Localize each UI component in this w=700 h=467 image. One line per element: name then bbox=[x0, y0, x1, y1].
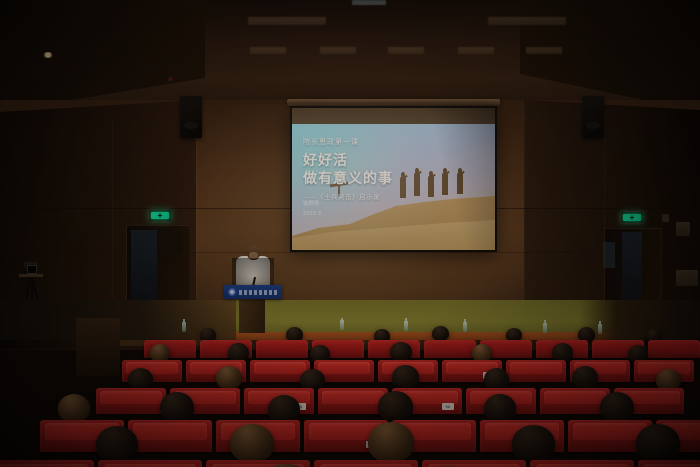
seat-cushion bbox=[510, 362, 563, 373]
seat[interactable] bbox=[98, 460, 202, 467]
seat[interactable] bbox=[648, 340, 700, 358]
seat[interactable] bbox=[506, 360, 566, 382]
podium-nameplate-text bbox=[239, 290, 279, 295]
audience-head bbox=[368, 422, 414, 462]
left-aisle bbox=[76, 318, 120, 376]
slide-kicker: 院长思政第一课 bbox=[303, 137, 393, 147]
ceiling-downlight bbox=[43, 52, 53, 58]
ceiling-light-panel bbox=[250, 47, 286, 54]
left-door-glass bbox=[131, 230, 157, 300]
audience-head bbox=[378, 391, 413, 422]
audience-head bbox=[160, 392, 194, 422]
audience-head bbox=[572, 366, 598, 389]
seat[interactable] bbox=[314, 460, 418, 467]
slide-soldier-silhouette bbox=[414, 172, 420, 196]
slide-presenter: 徐野扬 bbox=[303, 200, 321, 210]
ceiling-light-panel bbox=[320, 47, 356, 54]
exit-sign-glyph bbox=[623, 214, 641, 221]
camera-on-tripod bbox=[24, 262, 38, 274]
exit-sign-right bbox=[620, 211, 644, 224]
screen-top-blank-area bbox=[292, 108, 495, 124]
slide-title-line-2: 做有意义的事 bbox=[303, 170, 393, 188]
audience-head bbox=[484, 368, 509, 390]
slide-title-line-1: 好好活 bbox=[303, 152, 393, 170]
seat[interactable] bbox=[424, 340, 476, 358]
seat[interactable] bbox=[256, 340, 308, 358]
wall-control-panel[interactable] bbox=[676, 222, 690, 236]
slide-soldier-silhouette bbox=[400, 176, 406, 198]
left-wall-panel bbox=[166, 232, 183, 254]
water-bottle bbox=[182, 322, 186, 332]
slide-soldier-silhouette bbox=[428, 175, 434, 197]
light-switch[interactable] bbox=[662, 214, 669, 222]
audience-head bbox=[268, 395, 300, 423]
ceiling-light-panel bbox=[458, 47, 494, 54]
audience-head bbox=[128, 368, 153, 390]
seat[interactable] bbox=[128, 420, 212, 452]
seat-cushion bbox=[100, 391, 162, 405]
institution-emblem-icon bbox=[228, 288, 236, 296]
seat-cushion bbox=[254, 362, 307, 373]
seat[interactable]: 14 bbox=[422, 460, 526, 467]
audience-head bbox=[432, 326, 449, 341]
right-door-glass bbox=[622, 232, 642, 302]
ceiling-vent bbox=[352, 0, 386, 5]
wall-distribution-board bbox=[676, 270, 698, 286]
seat[interactable] bbox=[0, 460, 94, 467]
wall-speaker-left bbox=[180, 96, 202, 138]
right-wall-panel bbox=[603, 242, 615, 268]
slide-soldier-silhouette bbox=[457, 172, 463, 194]
audience-seating: 21 26 43 36 bbox=[0, 318, 700, 467]
exit-sign-glyph bbox=[151, 212, 169, 219]
audience-head bbox=[600, 392, 634, 422]
slide-soldier-silhouette bbox=[442, 172, 448, 195]
audience-head bbox=[216, 366, 242, 389]
water-bottle bbox=[404, 321, 408, 331]
auditorium-photo: 院长思政第一课 好好活 做有意义的事 ——《士兵突击》启示录 徐野扬 2022.… bbox=[0, 0, 700, 467]
audience-head bbox=[636, 424, 680, 462]
water-bottle bbox=[340, 320, 344, 330]
smoke-detector-icon bbox=[168, 77, 173, 81]
seat-cushion bbox=[544, 391, 606, 405]
water-bottle bbox=[543, 323, 547, 333]
wall-seam bbox=[112, 118, 113, 300]
audience-head bbox=[512, 425, 555, 462]
seat-number-plate: 36 bbox=[442, 403, 454, 410]
ceiling-light-panel bbox=[488, 17, 566, 25]
seat-cushion bbox=[322, 391, 384, 405]
slide-date: 2022.3 bbox=[303, 210, 321, 220]
seat[interactable] bbox=[530, 460, 634, 467]
screen-housing bbox=[287, 99, 500, 106]
audience-head bbox=[230, 424, 274, 462]
ceiling-light-panel bbox=[526, 47, 562, 54]
water-bottle bbox=[463, 322, 467, 332]
audience-head bbox=[96, 426, 138, 462]
audience-head bbox=[392, 365, 419, 389]
audience-head bbox=[58, 394, 90, 422]
seat[interactable] bbox=[96, 388, 166, 414]
audience-head bbox=[390, 342, 412, 361]
seat-cushion bbox=[133, 423, 207, 440]
water-bottle bbox=[598, 324, 602, 334]
presentation-slide: 院长思政第一课 好好活 做有意义的事 ——《士兵突击》启示录 徐野扬 2022.… bbox=[292, 124, 495, 250]
exit-sign-left bbox=[148, 209, 172, 222]
ceiling-light-panel bbox=[388, 47, 424, 54]
slide-meta: 徐野扬 2022.3 bbox=[303, 200, 321, 219]
wall-seam bbox=[524, 104, 525, 302]
seat-cushion bbox=[318, 362, 371, 373]
slide-text-block: 院长思政第一课 好好活 做有意义的事 ——《士兵突击》启示录 bbox=[303, 137, 393, 201]
seat[interactable] bbox=[638, 460, 700, 467]
audience-head bbox=[484, 394, 516, 422]
wall-seam bbox=[0, 252, 700, 253]
wall-speaker-right bbox=[582, 96, 604, 138]
speaker-face bbox=[249, 252, 258, 259]
ceiling-light-panel bbox=[248, 17, 326, 25]
